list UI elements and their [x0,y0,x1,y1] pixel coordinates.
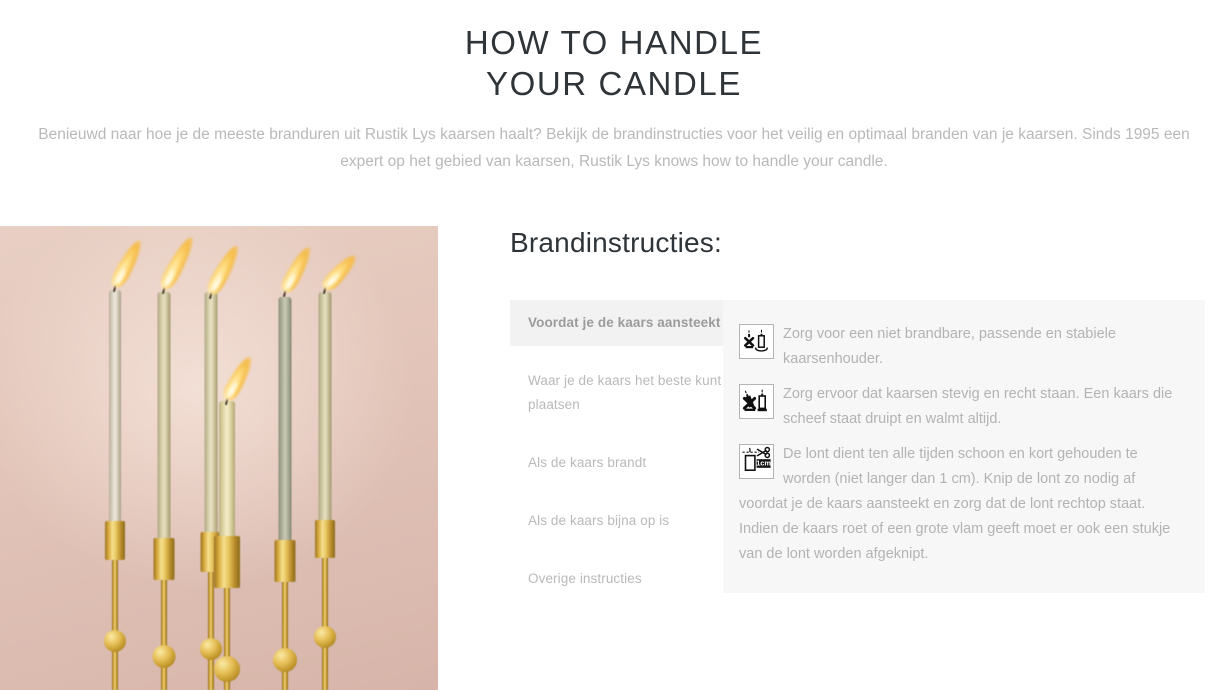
instruction-row: 1cm De lont dient ten alle tijden schoon… [739,442,1181,567]
trim-wick-1cm-scissors-icon: 1cm [739,444,774,479]
holder-cup [154,538,175,580]
instructions-pane: Brandinstructies: Voordat je de kaars aa… [438,226,1228,602]
page-title: HOW TO HANDLE YOUR CANDLE [0,22,1228,104]
holder-cup [315,520,335,558]
candle-5 [265,226,305,690]
tab-list: Voordat je de kaars aansteekt Waar je de… [510,300,723,602]
tab-panel-content: Zorg voor een niet brandbare, passende e… [723,300,1205,593]
candle-group [0,226,438,690]
body-split: Brandinstructies: Voordat je de kaars aa… [0,226,1228,690]
holder-stem [322,558,328,690]
holder-stem [161,580,167,690]
instruction-text: De lont dient ten alle tijden schoon en … [739,446,1170,562]
holder-stem [112,560,118,690]
candle-wax [158,292,171,540]
candle-1 [95,226,135,690]
instruction-row: Zorg voor een niet brandbare, passende e… [739,322,1181,372]
candle-wax [219,401,235,538]
candle-wax [319,292,332,522]
candle-4 [207,226,247,690]
holder-stem [282,582,288,690]
section-title: Brandinstructies: [510,226,1228,260]
tab-als-de-kaars-brandt[interactable]: Als de kaars brandt [510,440,723,486]
tab-waar-je-de-kaars-het-beste-kunt-plaatsen[interactable]: Waar je de kaars het beste kunt plaatsen [510,358,723,428]
page-title-line-1: HOW TO HANDLE [0,22,1228,63]
instructions-accordion: Voordat je de kaars aansteekt Waar je de… [510,300,1205,602]
holder-ball [273,648,297,672]
instruction-text: Zorg voor een niet brandbare, passende e… [783,326,1116,367]
holder-ball [104,630,126,652]
holder-ball [153,645,176,668]
svg-text:1cm: 1cm [756,459,771,468]
candle-2 [144,226,184,690]
holder-cup [275,540,296,582]
instruction-row: Zorg ervoor dat kaarsen stevig en recht … [739,382,1181,432]
candle-6 [305,226,345,690]
page-intro-paragraph: Benieuwd naar hoe je de meeste branduren… [17,121,1212,175]
holder-cup [214,536,240,588]
candle-wax [279,297,292,542]
candle-wax [109,290,121,522]
page-root: HOW TO HANDLE YOUR CANDLE Benieuwd naar … [0,0,1228,690]
candle-upright-not-tilted-icon [739,384,774,419]
holder-cup [105,521,125,560]
tab-voordat-je-de-kaars-aansteekt[interactable]: Voordat je de kaars aansteekt [510,300,723,346]
tab-overige-instructies[interactable]: Overige instructies [510,556,723,602]
holder-ball [214,656,240,682]
candle-flame [220,355,257,403]
candle-flame [319,252,361,293]
candles-photo [0,226,438,690]
candle-flame [108,238,146,290]
candle-holder-stable-icon [739,324,774,359]
instruction-text: Zorg ervoor dat kaarsen stevig en recht … [783,386,1172,427]
page-title-line-2: YOUR CANDLE [0,63,1228,104]
page-header: HOW TO HANDLE YOUR CANDLE Benieuwd naar … [0,0,1228,175]
holder-ball [314,626,336,648]
tab-als-de-kaars-bijna-op-is[interactable]: Als de kaars bijna op is [510,498,723,544]
